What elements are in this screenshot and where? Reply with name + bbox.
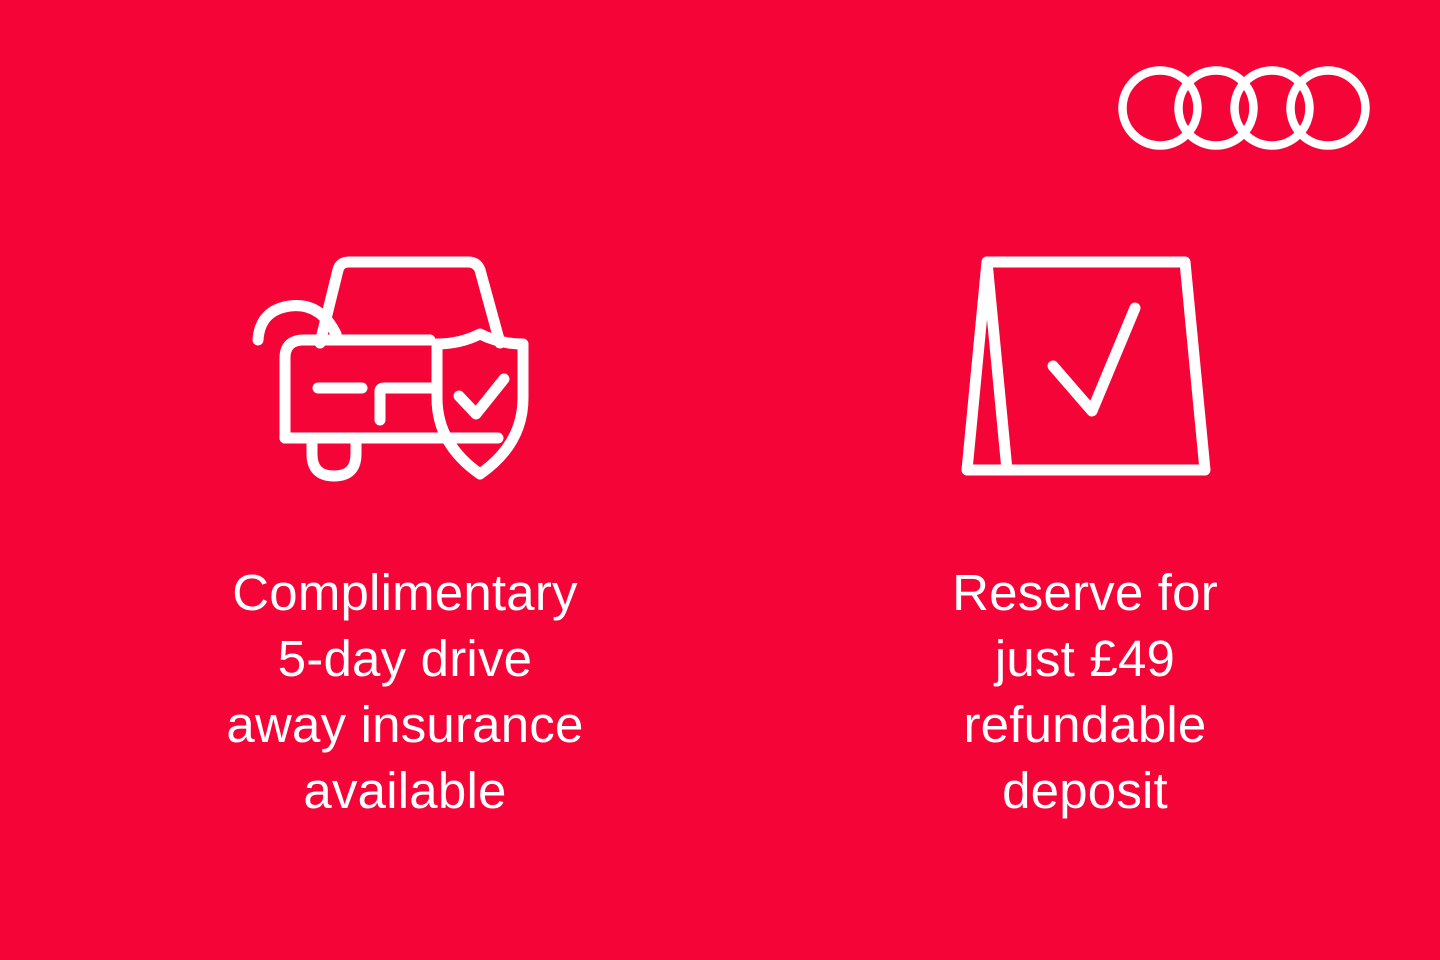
reserve-card-check-icon [949,248,1221,488]
promo-panel: Complimentary 5-day drive away insurance… [0,0,1440,960]
feature-caption-deposit: Reserve for just £49 refundable deposit [952,560,1218,824]
features-row: Complimentary 5-day drive away insurance… [0,0,1440,960]
feature-card-insurance: Complimentary 5-day drive away insurance… [110,248,700,824]
feature-card-deposit: Reserve for just £49 refundable deposit [790,248,1380,824]
car-with-shield-icon [250,248,560,488]
feature-caption-insurance: Complimentary 5-day drive away insurance… [226,560,583,824]
